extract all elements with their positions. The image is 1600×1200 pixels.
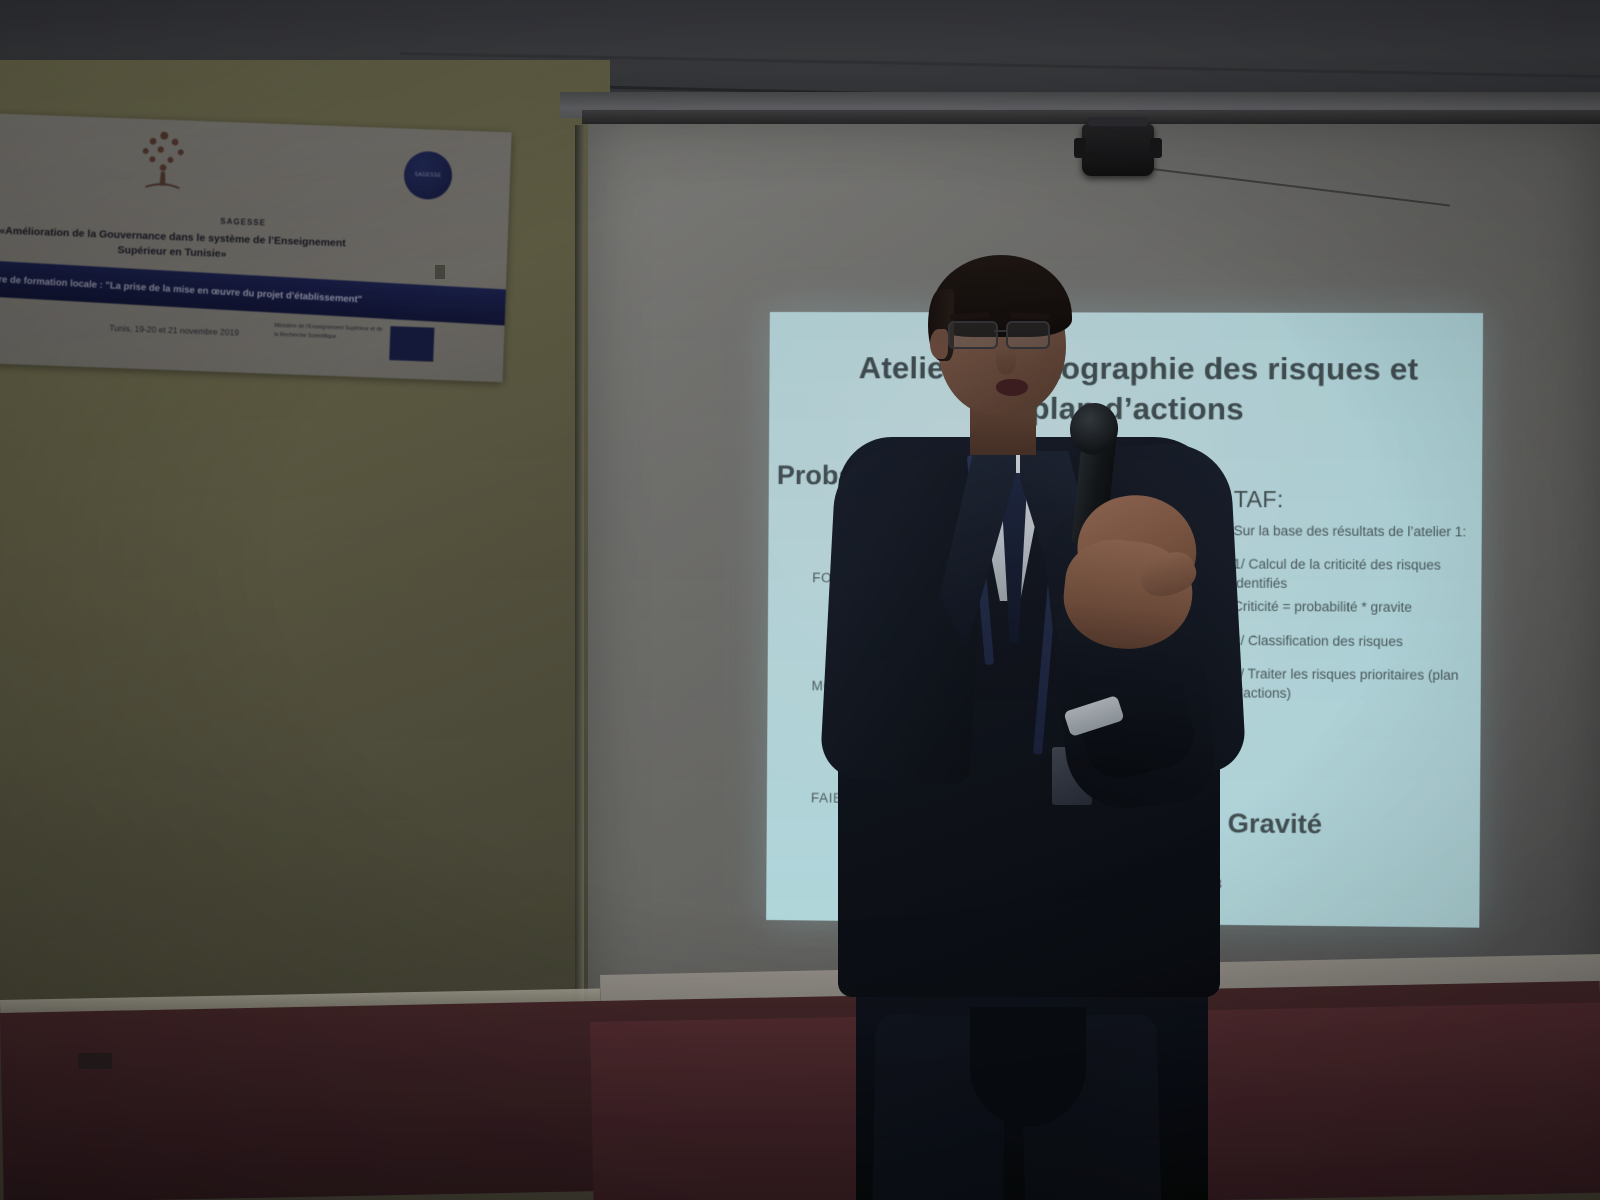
poster-logo-box bbox=[389, 326, 434, 362]
speaker-nose bbox=[996, 347, 1016, 375]
wall-corner-edge bbox=[575, 125, 584, 1025]
ceiling-speaker-icon bbox=[1082, 124, 1154, 176]
taf-heading: TAF: bbox=[1234, 486, 1470, 514]
taf-item-1: 1/ Calcul de la criticité des risques id… bbox=[1233, 555, 1469, 595]
poster-badge: SAGESSE bbox=[403, 151, 453, 201]
taf-item-3: 3/ Traiter les risques prioritaires (pla… bbox=[1232, 664, 1468, 704]
eyeglasses-icon bbox=[948, 321, 1066, 347]
speaker-mount-left bbox=[1074, 138, 1086, 158]
poster-logo-text: Ministère de l’Enseignement Supérieur et… bbox=[274, 322, 385, 344]
speaker-trouser-fold bbox=[970, 1007, 1086, 1127]
wall-mark bbox=[435, 265, 445, 279]
taf-block: TAF: Sur la base des résultats de l’atel… bbox=[1232, 486, 1469, 719]
photo-scene: Atelier 2: cartographie des risques et p… bbox=[0, 0, 1600, 1200]
slide-axis-title-gravite: Gravité bbox=[1228, 808, 1323, 840]
speaker-figure bbox=[820, 255, 1240, 1200]
speaker-mount-right bbox=[1150, 138, 1162, 158]
poster-tree-icon bbox=[129, 124, 198, 196]
taf-intro: Sur la base des résultats de l’atelier 1… bbox=[1233, 521, 1469, 541]
wall-poster: SAGESSE SAGESSE «Amélioration de la Gouv… bbox=[0, 113, 512, 382]
speaker-mouth bbox=[996, 379, 1028, 396]
eyeglass-lens-right bbox=[1006, 321, 1050, 349]
speaker-ear bbox=[930, 329, 948, 359]
power-socket bbox=[78, 1053, 112, 1069]
poster-badge-label: SAGESSE bbox=[415, 172, 442, 179]
poster-logos: Ministère de l’Enseignement Supérieur et… bbox=[273, 322, 474, 373]
taf-item-1b: Criticité = probabilité * gravite bbox=[1233, 597, 1469, 618]
poster-banner-text: Séminaire de formation locale : "La pris… bbox=[0, 270, 362, 305]
taf-item-2: 2/ Classification des risques bbox=[1233, 631, 1469, 652]
eyeglass-lens-left bbox=[948, 321, 998, 349]
poster-title: «Amélioration de la Gouvernance dans le … bbox=[0, 223, 358, 267]
